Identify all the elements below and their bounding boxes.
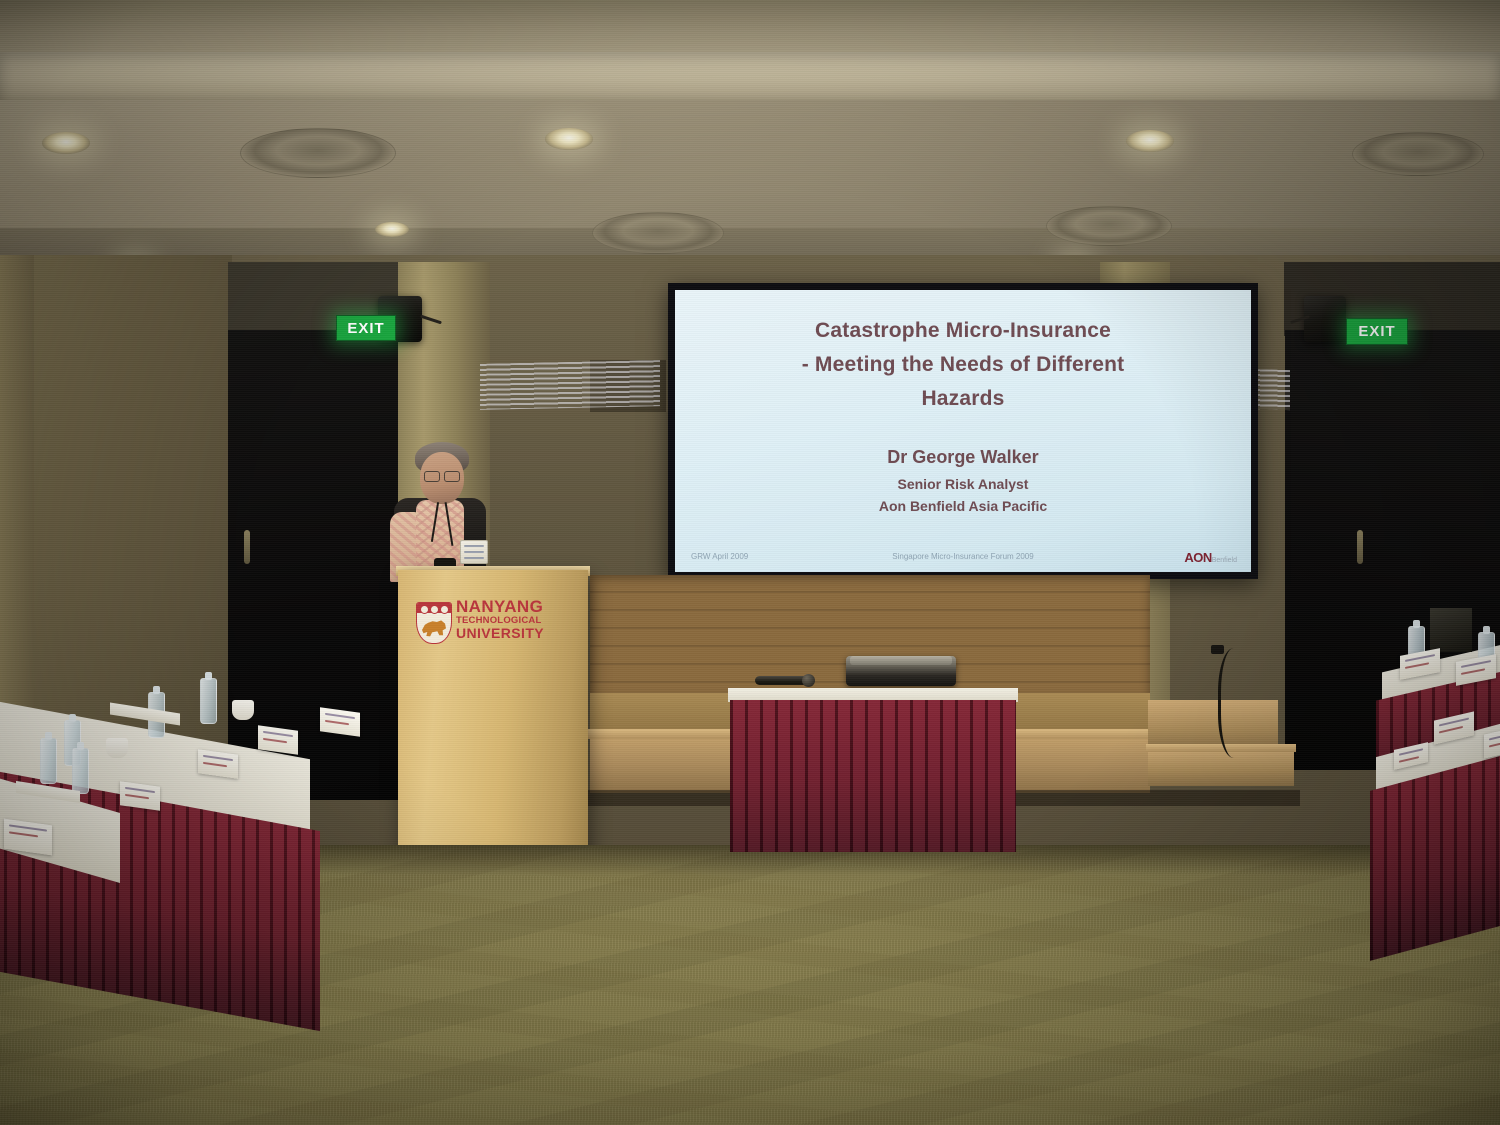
ntu-crest-icon xyxy=(416,596,450,642)
benfield-logo-text: Benfield xyxy=(1212,557,1237,564)
slide-title-line-1: Catastrophe Micro-Insurance xyxy=(701,314,1225,348)
aon-benfield-logo: AONBenfield xyxy=(1184,550,1237,565)
stage-step-mid xyxy=(1148,748,1294,786)
projector-lid xyxy=(850,656,952,665)
stage-step-upper xyxy=(1148,700,1278,750)
water-bottle xyxy=(200,678,217,724)
crest-lion-icon xyxy=(422,618,446,638)
conference-room-photo: Catastrophe Micro-Insurance - Meeting th… xyxy=(0,0,1500,1125)
slide-presenter-organisation: Aon Benfield Asia Pacific xyxy=(675,498,1251,514)
projector-unit xyxy=(846,656,956,686)
slide-title-line-2: - Meeting the Needs of Different xyxy=(701,348,1225,382)
ntu-logo-text: NANYANG TECHNOLOGICAL UNIVERSITY xyxy=(456,598,544,640)
paper-cup xyxy=(106,738,128,758)
exit-sign-left: EXIT xyxy=(336,315,396,341)
ceiling-beam-upper xyxy=(0,0,1500,52)
projection-screen-frame: Catastrophe Micro-Insurance - Meeting th… xyxy=(668,283,1258,579)
stage-table-skirt xyxy=(730,700,1016,852)
ntu-logo: NANYANG TECHNOLOGICAL UNIVERSITY xyxy=(416,588,566,650)
handheld-microphone xyxy=(755,676,811,685)
exit-sign-left-label: EXIT xyxy=(347,320,384,337)
ceiling-downlight xyxy=(1126,130,1174,152)
water-bottle xyxy=(40,738,57,784)
ceiling-beam-lit xyxy=(0,52,1500,100)
ntu-logo-line-3: UNIVERSITY xyxy=(456,626,544,641)
pa-speaker-right xyxy=(1304,296,1346,342)
striped-wall-panel-left xyxy=(480,360,660,410)
crest-shield xyxy=(416,602,452,644)
crest-flower-icon xyxy=(430,605,439,614)
aon-logo-text: AON xyxy=(1184,550,1211,565)
ntu-logo-line-1: NANYANG xyxy=(456,598,544,616)
door-handle-right xyxy=(1357,530,1363,564)
ceiling-downlight xyxy=(375,222,409,237)
projection-screen: Catastrophe Micro-Insurance - Meeting th… xyxy=(675,290,1251,572)
ceiling-air-vent xyxy=(1046,206,1172,246)
slide-footer: GRW April 2009 Singapore Micro-Insurance… xyxy=(675,550,1251,566)
presenter-person xyxy=(372,440,502,580)
slide-title-line-3: Hazards xyxy=(701,382,1225,416)
laptop-or-folder xyxy=(1430,608,1472,652)
name-badge xyxy=(460,540,488,564)
door-handle-left xyxy=(244,530,250,564)
stage-step-trim xyxy=(1146,744,1296,752)
glasses-icon xyxy=(424,471,460,480)
ceiling-downlight xyxy=(545,128,593,150)
ceiling-air-vent xyxy=(1352,132,1484,176)
power-cable xyxy=(1218,648,1257,758)
crest-flower-icon xyxy=(440,605,449,614)
slide-footer-center: Singapore Micro-Insurance Forum 2009 xyxy=(675,552,1251,561)
paper-cup xyxy=(232,700,254,720)
ceiling-air-vent xyxy=(592,212,724,254)
exit-sign-right-label: EXIT xyxy=(1358,323,1395,340)
slide-presenter-role: Senior Risk Analyst xyxy=(675,476,1251,492)
exit-sign-right: EXIT xyxy=(1346,318,1408,345)
crest-flower-icon xyxy=(420,605,429,614)
slide-presenter-name: Dr George Walker xyxy=(675,447,1251,468)
ceiling-air-vent xyxy=(240,128,396,178)
slide-title: Catastrophe Micro-Insurance - Meeting th… xyxy=(675,314,1251,416)
water-bottle xyxy=(72,748,89,794)
ceiling-downlight xyxy=(42,132,90,154)
wall-socket xyxy=(1211,645,1224,654)
